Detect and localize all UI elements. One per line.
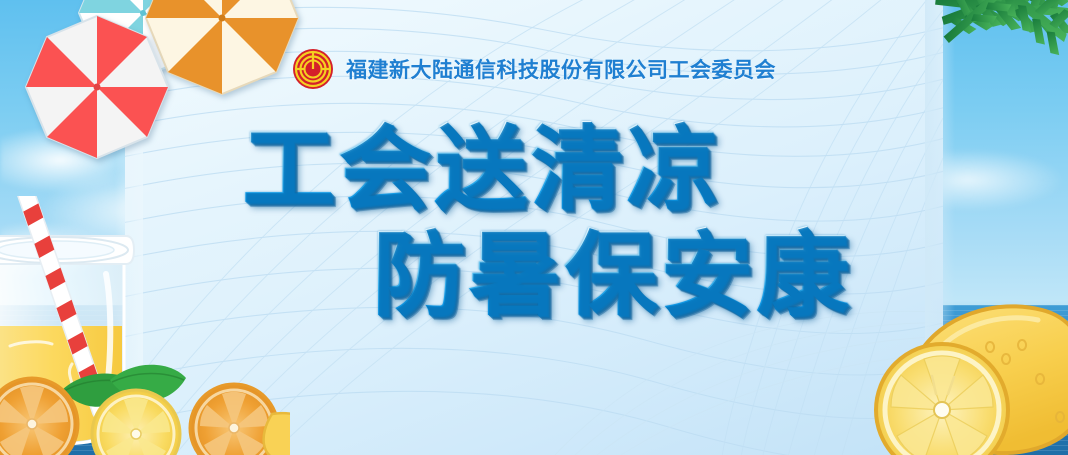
lemon-decoration-right (870, 300, 1068, 455)
citrus-decoration-left (0, 362, 290, 455)
main-title: 工会送清凉 防暑保安康 (0, 120, 1068, 323)
title-line-2: 防暑保安康 (0, 226, 1068, 324)
summer-care-banner: 福建新大陆通信科技股份有限公司工会委员会 工会送清凉 防暑保安康 (0, 0, 1068, 455)
banner-header: 福建新大陆通信科技股份有限公司工会委员会 (0, 48, 1068, 90)
trade-union-emblem-icon (292, 48, 334, 90)
title-line-1: 工会送清凉 (0, 120, 1068, 218)
organization-name: 福建新大陆通信科技股份有限公司工会委员会 (346, 54, 776, 84)
